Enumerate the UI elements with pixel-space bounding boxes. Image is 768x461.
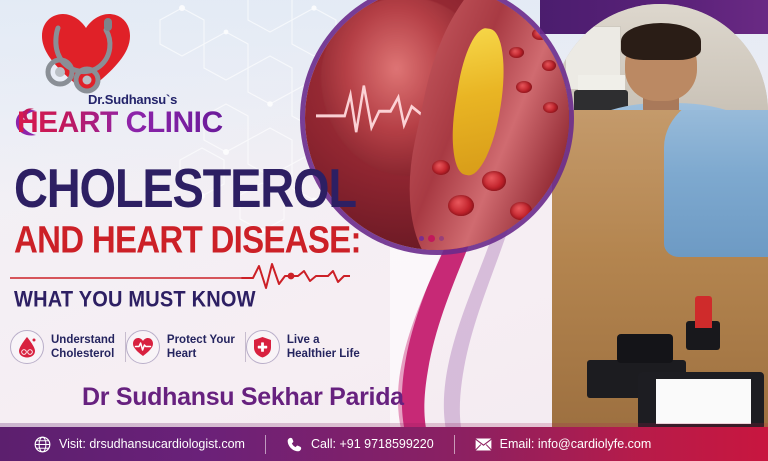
phone-icon	[286, 436, 303, 453]
feature-label: Protect Your Heart	[167, 333, 235, 361]
heart-pulse-icon	[126, 330, 160, 364]
headline-block: CHOLESTEROL AND HEART DISEASE:	[14, 162, 414, 253]
clinic-logo[interactable]: Dr.Sudhansu`s HEART CLINIC	[14, 10, 214, 140]
feature-label: Understand Cholesterol	[51, 333, 115, 361]
footer-divider	[454, 435, 455, 454]
ecg-line-icon	[10, 262, 350, 290]
footer-website[interactable]: Visit: drsudhansucardiologist.com	[34, 436, 245, 453]
blood-drop-icon	[10, 330, 44, 364]
feature-label: Live a Healthier Life	[287, 333, 360, 361]
feature-protect-your-heart[interactable]: Protect Your Heart	[126, 330, 245, 364]
feature-live-healthier-life[interactable]: Live a Healthier Life	[246, 330, 370, 364]
logo-clinic-name: HEART CLINIC	[17, 106, 223, 140]
footer-email[interactable]: Email: info@cardiolyfe.com	[475, 436, 652, 453]
feature-understand-cholesterol[interactable]: Understand Cholesterol	[10, 330, 125, 364]
shield-plus-icon	[246, 330, 280, 364]
globe-icon	[34, 436, 51, 453]
headline-line-2: AND HEART DISEASE:	[14, 220, 414, 258]
doctor-photo	[540, 0, 768, 430]
envelope-icon	[475, 436, 492, 453]
doctor-desk-scene	[552, 110, 768, 430]
doctor-name: Dr Sudhansu Sekhar Parida	[82, 383, 404, 412]
footer-contact-bar: Visit: drsudhansucardiologist.com Call: …	[0, 427, 768, 461]
footer-email-text: Email: info@cardiolyfe.com	[500, 437, 652, 451]
feature-badges: Understand Cholesterol Protect Your Hear…	[10, 330, 370, 364]
headline-line-1: CHOLESTEROL	[14, 162, 414, 214]
footer-phone[interactable]: Call: +91 9718599220	[286, 436, 434, 453]
footer-divider	[265, 435, 266, 454]
footer-phone-text: Call: +91 9718599220	[311, 437, 434, 451]
promotional-banner: Dr.Sudhansu`s HEART CLINIC CHOLESTEROL A…	[0, 0, 768, 461]
logo-doctor-prefix: Dr.Sudhansu`s	[88, 92, 177, 107]
decorative-dots	[419, 235, 444, 242]
headline-line-3: WHAT YOU MUST KNOW	[14, 288, 256, 313]
heart-stethoscope-icon	[38, 10, 134, 96]
footer-website-text: Visit: drsudhansucardiologist.com	[59, 437, 245, 451]
